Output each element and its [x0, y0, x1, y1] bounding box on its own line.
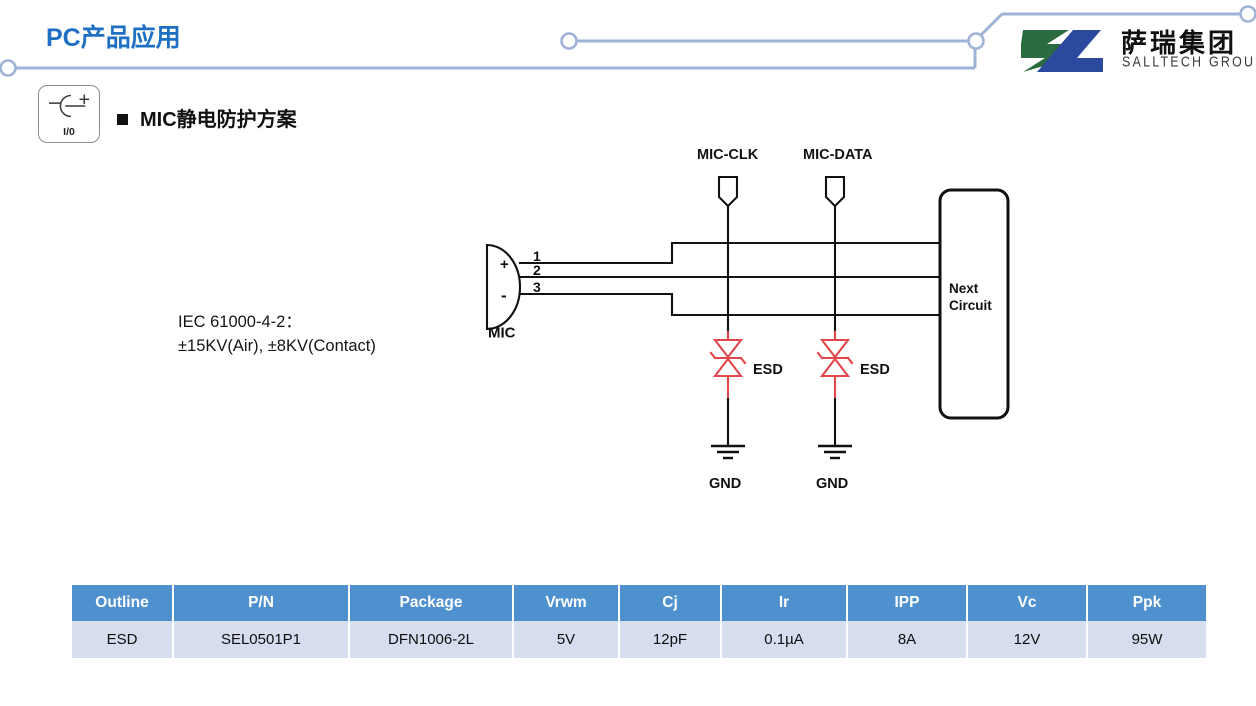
bullet-square-icon — [117, 114, 128, 125]
cell-vc: 12V — [968, 621, 1086, 658]
column-header-vrwm: Vrwm — [514, 585, 618, 621]
testpoint-data-icon — [826, 177, 844, 206]
logo-name-en: SALLTECH GROUP — [1122, 54, 1256, 70]
io-icon-label: I/0 — [39, 126, 99, 138]
page-title: PC产品应用 — [46, 18, 181, 54]
iec-note-line1: IEC 61000-4-2： — [178, 311, 376, 335]
table-row: ESD SEL0501P1 DFN1006-2L 5V 12pF 0.1µA 8… — [72, 621, 1206, 658]
column-header-vc: Vc — [968, 585, 1086, 621]
io-symbol-icon — [39, 85, 99, 127]
cell-vrwm: 5V — [514, 621, 618, 658]
logo-mark-icon — [1013, 28, 1113, 74]
section-title: MIC静电防护方案 — [117, 103, 297, 132]
next-circuit-label-line2: Circuit — [949, 298, 992, 313]
cell-ipp: 8A — [848, 621, 966, 658]
mic-plus-label: + — [500, 256, 509, 273]
next-circuit-label-line1: Next — [949, 281, 979, 296]
iec-standard-note: IEC 61000-4-2： ±15KV(Air), ±8KV(Contact) — [178, 311, 376, 359]
spec-table: Outline P/N Package Vrwm Cj Ir IPP Vc Pp… — [70, 585, 1208, 658]
cell-cj: 12pF — [620, 621, 720, 658]
pin-2-label: 2 — [533, 262, 541, 278]
pin-3-label: 3 — [533, 279, 541, 295]
cell-package: DFN1006-2L — [350, 621, 512, 658]
cell-outline: ESD — [72, 621, 172, 658]
testpoint-data-label: MIC-DATA — [803, 147, 873, 163]
column-header-package: Package — [350, 585, 512, 621]
column-header-cj: Cj — [620, 585, 720, 621]
esd2-label: ESD — [860, 362, 890, 378]
mic-minus-label: - — [501, 286, 507, 305]
gnd2-label: GND — [816, 476, 848, 492]
cell-ppk: 95W — [1088, 621, 1206, 658]
circuit-diagram: MIC + - 1 2 3 MIC-CLK MIC-DATA ESD ESD G… — [460, 135, 1040, 505]
column-header-outline: Outline — [72, 585, 172, 621]
testpoint-clk-label: MIC-CLK — [697, 147, 759, 163]
column-header-ipp: IPP — [848, 585, 966, 621]
company-logo: 萨瑞集团 SALLTECH GROUP — [1013, 26, 1245, 74]
io-icon-box: I/0 — [38, 85, 100, 143]
iec-note-line2: ±15KV(Air), ±8KV(Contact) — [178, 335, 376, 359]
cell-pn: SEL0501P1 — [174, 621, 348, 658]
column-header-ir: Ir — [722, 585, 846, 621]
column-header-ppk: Ppk — [1088, 585, 1206, 621]
table-header-row: Outline P/N Package Vrwm Cj Ir IPP Vc Pp… — [72, 585, 1206, 621]
gnd1-label: GND — [709, 476, 741, 492]
testpoint-clk-icon — [719, 177, 737, 206]
esd1-label: ESD — [753, 362, 783, 378]
section-title-text: MIC静电防护方案 — [140, 109, 297, 131]
column-header-pn: P/N — [174, 585, 348, 621]
cell-ir: 0.1µA — [722, 621, 846, 658]
mic-label: MIC — [488, 324, 516, 341]
